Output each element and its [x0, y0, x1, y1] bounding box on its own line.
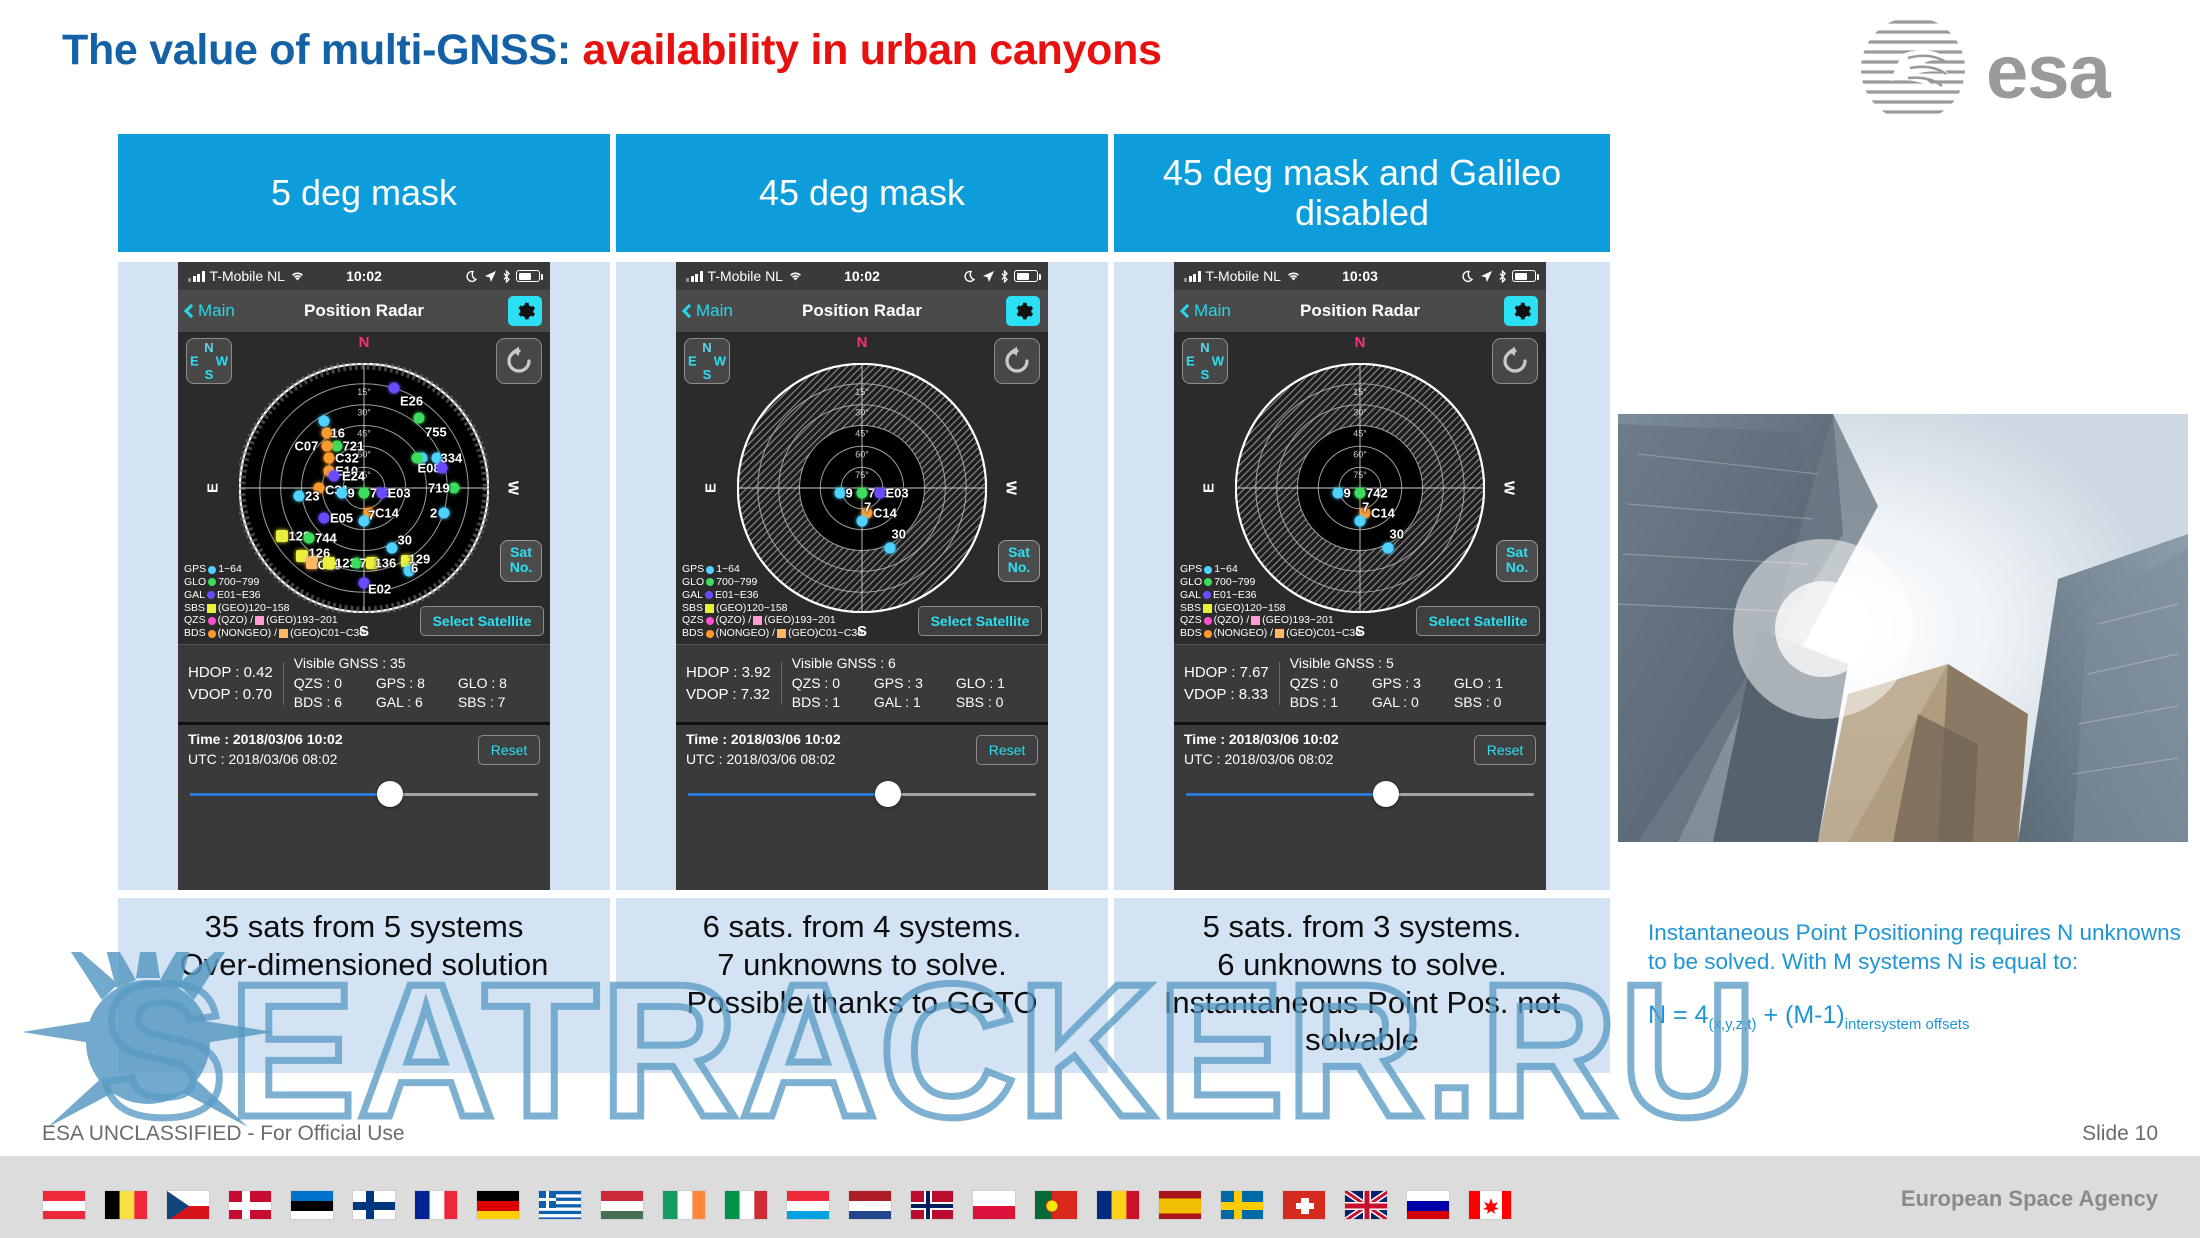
flag-czech-republic [166, 1190, 210, 1220]
visible-gnss-total: Visible GNSS : 5 [1290, 654, 1536, 674]
hdop-value: HDOP : 0.42 [188, 662, 273, 684]
legend-row-qzs: QZS(QZO) / (GEO)193~201 [682, 614, 863, 627]
status-bar: T-Mobile NL10:03 [1174, 262, 1546, 290]
back-button[interactable]: Main [684, 301, 733, 321]
refresh-button[interactable] [1492, 338, 1538, 384]
legend-system-label: GLO [682, 576, 704, 589]
legend-marker-icon [1204, 566, 1212, 574]
satellite-label: 742 [1366, 486, 1388, 501]
location-arrow-icon [1480, 270, 1493, 283]
flag-spain [1158, 1190, 1202, 1220]
legend-marker-icon-2 [753, 616, 762, 625]
svg-text:15°: 15° [357, 387, 371, 397]
flag-romania [1096, 1190, 1140, 1220]
flag-greece [538, 1190, 582, 1220]
legend-marker-icon [1204, 578, 1212, 586]
chevron-left-icon [1180, 304, 1194, 318]
slider-thumb[interactable] [875, 781, 901, 807]
flag-norway [910, 1190, 954, 1220]
flag-france [414, 1190, 458, 1220]
legend-system-label: BDS [1180, 627, 1202, 640]
cardinal-east: E [205, 483, 222, 493]
battery-icon [1512, 270, 1536, 282]
satellite-marker[interactable] [324, 453, 335, 464]
legend-system-label: GAL [682, 589, 703, 602]
cardinal-west: W [1500, 481, 1517, 495]
agency-name: European Space Agency [1901, 1186, 2158, 1212]
sat-no-button[interactable]: SatNo. [998, 540, 1040, 582]
battery-icon [516, 270, 540, 282]
legend-range: (NONGEO) / [716, 627, 776, 640]
svg-text:45°: 45° [1353, 429, 1367, 439]
legend-range: (GEO)120~158 [1214, 602, 1286, 615]
legend-range-2: (GEO)193~201 [1262, 614, 1334, 627]
flag-belgium [104, 1190, 148, 1220]
legend-row-glo: GLO700~799 [682, 576, 863, 589]
slider-track[interactable] [688, 793, 1036, 796]
legend-marker-icon [1204, 617, 1212, 625]
compass-s: S [205, 367, 214, 382]
compass-n: N [702, 340, 711, 355]
back-button[interactable]: Main [1182, 301, 1231, 321]
slider-track[interactable] [190, 793, 538, 796]
time-bar: Time : 2018/03/06 10:02UTC : 2018/03/06 … [1174, 722, 1546, 774]
reset-button[interactable]: Reset [478, 735, 540, 765]
member-state-flags [42, 1190, 1512, 1220]
time-slider[interactable] [1174, 774, 1546, 814]
satellite-label: 7 [1362, 499, 1369, 514]
legend-system-label: SBS [184, 602, 205, 615]
satellite-marker[interactable] [411, 453, 422, 464]
legend-system-label: GLO [1180, 576, 1202, 589]
dop-values: HDOP : 3.92VDOP : 7.32 [686, 662, 782, 706]
satellite-label: 744 [315, 531, 337, 546]
flag-denmark [228, 1190, 272, 1220]
visible-counts: Visible GNSS : 35QZS : 0GPS : 8GLO : 8BD… [294, 654, 540, 713]
dop-panel: HDOP : 0.42VDOP : 0.70Visible GNSS : 35Q… [178, 644, 550, 722]
satellite-label: 9 [1344, 486, 1351, 501]
satellite-marker[interactable] [439, 508, 450, 519]
glo-count: GLO : 1 [1454, 674, 1536, 694]
time-values: Time : 2018/03/06 10:02UTC : 2018/03/06 … [686, 730, 841, 770]
legend-marker-icon [706, 617, 714, 625]
flag-sweden [1220, 1190, 1264, 1220]
satellite-legend: GPS1~64GLO700~799GALE01~E36SBS(GEO)120~1… [682, 563, 863, 640]
refresh-button[interactable] [994, 338, 1040, 384]
column-header-1: 5 deg mask [118, 134, 610, 252]
sat-no-button[interactable]: SatNo. [1496, 540, 1538, 582]
legend-marker-icon [208, 630, 216, 638]
compass-w: W [714, 354, 726, 369]
formula-sub-b: intersystem offsets [1845, 1016, 1970, 1033]
satellite-marker[interactable] [1332, 488, 1343, 499]
satellite-label: 23 [305, 488, 319, 503]
legend-system-label: SBS [1180, 602, 1201, 615]
select-satellite-button[interactable]: Select Satellite [1416, 606, 1540, 636]
time-values: Time : 2018/03/06 10:02UTC : 2018/03/06 … [188, 730, 343, 770]
legend-system-label: QZS [184, 614, 206, 627]
legend-range: (QZO) / [1214, 614, 1250, 627]
utc-time: UTC : 2018/03/06 08:02 [1184, 750, 1339, 770]
bds-count: BDS : 1 [792, 693, 874, 713]
satellite-marker[interactable] [329, 470, 340, 481]
flag-austria [42, 1190, 86, 1220]
column-header-3: 45 deg mask and Galileo disabled [1114, 134, 1610, 252]
formula-part-a: N = 4 [1648, 1001, 1708, 1029]
back-label: Main [198, 301, 235, 321]
legend-row-qzs: QZS(QZO) / (GEO)193~201 [1180, 614, 1361, 627]
legend-range: 700~799 [1214, 576, 1255, 589]
legend-system-label: GPS [682, 563, 704, 576]
legend-range: (QZO) / [716, 614, 752, 627]
legend-range: E01~E36 [217, 589, 261, 602]
satellite-marker[interactable] [389, 383, 400, 394]
satellite-marker[interactable] [319, 415, 330, 426]
formula: N = 4(x,y,z,t) + (M-1)intersystem offset… [1648, 999, 2188, 1035]
legend-range: E01~E36 [715, 589, 759, 602]
satellite-marker[interactable] [294, 490, 305, 501]
legend-range: 1~64 [716, 563, 740, 576]
gal-count: GAL : 6 [376, 693, 458, 713]
status-right [1462, 270, 1536, 283]
satellite-marker[interactable] [449, 483, 460, 494]
legend-system-label: BDS [682, 627, 704, 640]
satellite-label: 6 [411, 560, 418, 575]
page-title-part2: availability in urban canyons [583, 26, 1162, 74]
satellite-marker[interactable] [857, 488, 868, 499]
satellite-legend: GPS1~64GLO700~799GALE01~E36SBS(GEO)120~1… [184, 563, 365, 640]
legend-marker-icon [208, 578, 216, 586]
position-radar[interactable]: NSEW15°30°45°60°75°E2675516721C07C32E10E… [178, 332, 550, 644]
legend-row-bds: BDS(NONGEO) / (GEO)C01~C36 [184, 627, 365, 640]
cardinal-north: N [1355, 334, 1366, 351]
svg-text:15°: 15° [855, 387, 869, 397]
satellite-label: 2 [430, 506, 437, 521]
location-arrow-icon [484, 270, 497, 283]
phone-panel-wrapper-3: T-Mobile NL10:03MainPosition RadarNSEW15… [1114, 262, 1610, 890]
compass-e: E [1186, 354, 1195, 369]
legend-marker-icon-2 [777, 629, 786, 638]
bluetooth-icon [502, 270, 511, 283]
flag-luxembourg [786, 1190, 830, 1220]
bds-count: BDS : 6 [294, 693, 376, 713]
satellite-label: 7 [368, 507, 375, 522]
settings-button[interactable] [1504, 296, 1538, 326]
page-title-part1: The value of multi-GNSS: [62, 26, 583, 74]
dop-panel: HDOP : 7.67VDOP : 8.33Visible GNSS : 5QZ… [1174, 644, 1546, 722]
back-label: Main [1194, 301, 1231, 321]
satellite-marker[interactable] [436, 463, 447, 474]
compass-widget[interactable]: NSEW [684, 338, 730, 384]
time-bar: Time : 2018/03/06 10:02UTC : 2018/03/06 … [178, 722, 550, 774]
qzs-count: QZS : 0 [294, 674, 376, 694]
settings-button[interactable] [1006, 296, 1040, 326]
svg-text:30°: 30° [357, 408, 371, 418]
satellite-marker[interactable] [1382, 543, 1393, 554]
compass-s: S [1201, 367, 1210, 382]
compass-widget[interactable]: NSEW [186, 338, 232, 384]
satellite-marker[interactable] [331, 440, 342, 451]
phone-screenshot-1: T-Mobile NL10:02MainPosition RadarNSEW15… [178, 262, 550, 890]
legend-row-sbs: SBS(GEO)120~158 [682, 602, 863, 615]
nav-bar: MainPosition Radar [676, 290, 1048, 332]
phone-panel-wrapper-2: T-Mobile NL10:02MainPosition RadarNSEW15… [616, 262, 1108, 890]
legend-row-bds: BDS(NONGEO) / (GEO)C01~C36 [1180, 627, 1361, 640]
svg-text:45°: 45° [357, 429, 371, 439]
local-time: Time : 2018/03/06 10:02 [686, 731, 841, 747]
qzs-count: QZS : 0 [792, 674, 874, 694]
satellite-label: 30 [1390, 527, 1404, 542]
sbs-count: SBS : 7 [458, 693, 540, 713]
satellite-marker[interactable] [834, 488, 845, 499]
status-bar: T-Mobile NL10:02 [178, 262, 550, 290]
esa-logo: esa [1858, 14, 2178, 124]
position-radar[interactable]: NSEW15°30°45°60°75°9742C14730NSEWGPS1~64… [1174, 332, 1546, 644]
back-button[interactable]: Main [186, 301, 235, 321]
legend-row-gal: GALE01~E36 [1180, 589, 1361, 602]
legend-row-sbs: SBS(GEO)120~158 [1180, 602, 1361, 615]
glo-count: GLO : 8 [458, 674, 540, 694]
caption-3: 5 sats. from 3 systems.6 unknowns to sol… [1114, 898, 1610, 1073]
satellite-marker[interactable] [304, 533, 315, 544]
satellite-marker[interactable] [414, 413, 425, 424]
visible-counts: Visible GNSS : 6QZS : 0GPS : 3GLO : 1BDS… [792, 654, 1038, 713]
satellite-marker[interactable] [386, 543, 397, 554]
legend-system-label: GLO [184, 576, 206, 589]
legend-row-bds: BDS(NONGEO) / (GEO)C01~C36 [682, 627, 863, 640]
local-time: Time : 2018/03/06 10:02 [188, 731, 343, 747]
utc-time: UTC : 2018/03/06 08:02 [686, 750, 841, 770]
caption-1: 35 sats from 5 systemsOver-dimensioned s… [118, 898, 610, 1073]
phone-panel-wrapper-1: T-Mobile NL10:02MainPosition RadarNSEW15… [118, 262, 610, 890]
legend-marker-icon [706, 630, 714, 638]
vdop-value: VDOP : 7.32 [686, 684, 771, 706]
legend-row-qzs: QZS(QZO) / (GEO)193~201 [184, 614, 365, 627]
legend-system-label: GPS [1180, 563, 1202, 576]
legend-marker-icon [1203, 604, 1212, 613]
gal-count: GAL : 0 [1372, 693, 1454, 713]
phone-screenshot-3: T-Mobile NL10:03MainPosition RadarNSEW15… [1174, 262, 1546, 890]
reset-button[interactable]: Reset [1474, 735, 1536, 765]
satellite-label: E05 [330, 511, 353, 526]
satellite-marker[interactable] [321, 440, 332, 451]
legend-marker-icon [207, 591, 215, 599]
satellite-label: C14 [375, 506, 399, 521]
formula-part-b: + (M-1) [1757, 1001, 1845, 1029]
dop-panel: HDOP : 3.92VDOP : 7.32Visible GNSS : 6QZ… [676, 644, 1048, 722]
location-arrow-icon [982, 270, 995, 283]
legend-range: 700~799 [218, 576, 259, 589]
legend-range: 700~799 [716, 576, 757, 589]
refresh-button[interactable] [496, 338, 542, 384]
slide-number: Slide 10 [2082, 1122, 2158, 1146]
time-slider[interactable] [676, 774, 1048, 814]
legend-marker-icon [705, 604, 714, 613]
gps-count: GPS : 8 [376, 674, 458, 694]
moon-icon [1462, 270, 1475, 283]
legend-marker-icon [706, 578, 714, 586]
legend-marker-icon [706, 566, 714, 574]
formula-sub-a: (x,y,z,t) [1708, 1016, 1756, 1033]
vdop-value: VDOP : 8.33 [1184, 684, 1269, 706]
satellite-marker[interactable] [319, 513, 330, 524]
legend-marker-icon [1203, 591, 1211, 599]
compass-e: E [190, 354, 199, 369]
sat-no-button[interactable]: SatNo. [500, 540, 542, 582]
legend-marker-icon [208, 617, 216, 625]
nav-bar: MainPosition Radar [178, 290, 550, 332]
compass-n: N [204, 340, 213, 355]
svg-text:75°: 75° [855, 470, 869, 480]
bluetooth-icon [1498, 270, 1507, 283]
satellite-label: 755 [425, 425, 447, 440]
cardinal-west: W [1002, 481, 1019, 495]
gear-icon [515, 301, 536, 322]
flag-finland [352, 1190, 396, 1220]
caption-2: 6 sats. from 4 systems.7 unknowns to sol… [616, 898, 1108, 1073]
legend-range: (NONGEO) / [218, 627, 278, 640]
svg-text:30°: 30° [855, 408, 869, 418]
satellite-marker[interactable] [359, 488, 370, 499]
gear-icon [1511, 301, 1532, 322]
legend-marker-icon-2 [279, 629, 288, 638]
satellite-legend: GPS1~64GLO700~799GALE01~E36SBS(GEO)120~1… [1180, 563, 1361, 640]
legend-range: 1~64 [218, 563, 242, 576]
legend-range: (NONGEO) / [1214, 627, 1274, 640]
legend-row-glo: GLO700~799 [1180, 576, 1361, 589]
satellite-marker[interactable] [857, 515, 868, 526]
satellite-label: 9 [846, 486, 853, 501]
compass-n: N [1200, 340, 1209, 355]
satellite-label: 30 [398, 533, 412, 548]
gear-icon [1013, 301, 1034, 322]
compass-s: S [703, 367, 712, 382]
slider-track[interactable] [1186, 793, 1534, 796]
legend-row-gps: GPS1~64 [184, 563, 365, 576]
vdop-value: VDOP : 0.70 [188, 684, 273, 706]
legend-system-label: GAL [184, 589, 205, 602]
utc-time: UTC : 2018/03/06 08:02 [188, 750, 343, 770]
reset-button[interactable]: Reset [976, 735, 1038, 765]
legend-marker-icon [705, 591, 713, 599]
phone-screenshot-row: T-Mobile NL10:02MainPosition RadarNSEW15… [118, 262, 1610, 890]
nav-bar: MainPosition Radar [1174, 290, 1546, 332]
qzs-count: QZS : 0 [1290, 674, 1372, 694]
legend-marker-icon-2 [1251, 616, 1260, 625]
legend-range: 1~64 [1214, 563, 1238, 576]
legend-range-2: (GEO)193~201 [764, 614, 836, 627]
column-headers: 5 deg mask 45 deg mask 45 deg mask and G… [118, 134, 1614, 252]
compass-w: W [1212, 354, 1224, 369]
chevron-left-icon [682, 304, 696, 318]
gps-count: GPS : 3 [874, 674, 956, 694]
satellite-label: E03 [388, 486, 411, 501]
satellite-marker[interactable] [1355, 515, 1366, 526]
compass-w: W [216, 354, 228, 369]
sbs-count: SBS : 0 [1454, 693, 1536, 713]
dop-values: HDOP : 0.42VDOP : 0.70 [188, 662, 284, 706]
svg-text:60°: 60° [855, 449, 869, 459]
satellite-label: 9 [348, 486, 355, 501]
flag-switzerland [1282, 1190, 1326, 1220]
legend-range: E01~E36 [1213, 589, 1257, 602]
visible-counts: Visible GNSS : 5QZS : 0GPS : 3GLO : 1BDS… [1290, 654, 1536, 713]
select-satellite-button[interactable]: Select Satellite [420, 606, 544, 636]
flag-canada [1468, 1190, 1512, 1220]
svg-text:esa: esa [1986, 30, 2112, 115]
svg-text:75°: 75° [1353, 470, 1367, 480]
satellite-marker[interactable] [874, 488, 885, 499]
satellite-marker[interactable] [336, 488, 347, 499]
glo-count: GLO : 1 [956, 674, 1038, 694]
legend-range: (GEO)120~158 [218, 602, 290, 615]
slider-thumb[interactable] [1373, 781, 1399, 807]
cardinal-north: N [359, 334, 370, 351]
right-explanation-text: Instantaneous Point Positioning requires… [1648, 918, 2188, 1034]
satellite-label: 30 [892, 527, 906, 542]
legend-system-label: SBS [682, 602, 703, 615]
legend-row-gps: GPS1~64 [682, 563, 863, 576]
svg-text:60°: 60° [1353, 449, 1367, 459]
satellite-marker[interactable] [884, 543, 895, 554]
refresh-icon [504, 346, 534, 376]
satellite-marker[interactable] [1355, 488, 1366, 499]
visible-gnss-total: Visible GNSS : 6 [792, 654, 1038, 674]
column-header-2: 45 deg mask [616, 134, 1108, 252]
legend-range-2: (GEO)C01~C36 [290, 627, 365, 640]
chevron-left-icon [184, 304, 198, 318]
status-right [466, 270, 540, 283]
battery-icon [1014, 270, 1038, 282]
slider-thumb[interactable] [377, 781, 403, 807]
back-label: Main [696, 301, 733, 321]
time-bar: Time : 2018/03/06 10:02UTC : 2018/03/06 … [676, 722, 1048, 774]
legend-row-glo: GLO700~799 [184, 576, 365, 589]
flag-netherlands [848, 1190, 892, 1220]
cardinal-north: N [857, 334, 868, 351]
time-slider[interactable] [178, 774, 550, 814]
svg-text:45°: 45° [855, 429, 869, 439]
legend-system-label: QZS [1180, 614, 1202, 627]
legend-system-label: GPS [184, 563, 206, 576]
flag-estonia [290, 1190, 334, 1220]
position-radar[interactable]: NSEW15°30°45°60°75°9746E03C14730NSEWGPS1… [676, 332, 1048, 644]
dop-values: HDOP : 7.67VDOP : 8.33 [1184, 662, 1280, 706]
gps-count: GPS : 3 [1372, 674, 1454, 694]
moon-icon [964, 270, 977, 283]
compass-widget[interactable]: NSEW [1182, 338, 1228, 384]
legend-range: (GEO)120~158 [716, 602, 788, 615]
legend-row-gal: GALE01~E36 [682, 589, 863, 602]
satellite-marker[interactable] [376, 488, 387, 499]
legend-system-label: BDS [184, 627, 206, 640]
gal-count: GAL : 1 [874, 693, 956, 713]
settings-button[interactable] [508, 296, 542, 326]
legend-marker-icon-2 [1275, 629, 1284, 638]
flag-portugal [1034, 1190, 1078, 1220]
select-satellite-button[interactable]: Select Satellite [918, 606, 1042, 636]
satellite-label: 136 [375, 556, 397, 571]
legend-range-2: (GEO)C01~C36 [788, 627, 863, 640]
cardinal-west: W [504, 481, 521, 495]
classification-label: ESA UNCLASSIFIED - For Official Use [42, 1122, 405, 1146]
flag-italy [724, 1190, 768, 1220]
satellite-label: E02 [368, 582, 391, 597]
satellite-label: E26 [400, 394, 423, 409]
caption-row: 35 sats from 5 systemsOver-dimensioned s… [118, 898, 1610, 1073]
satellite-marker[interactable] [276, 530, 288, 542]
legend-range-2: (GEO)C01~C36 [1286, 627, 1361, 640]
